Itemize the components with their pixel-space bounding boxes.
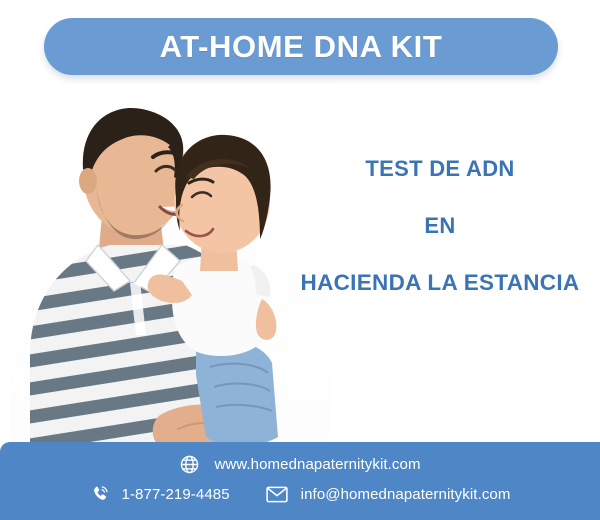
headline-line-2: EN [286,215,594,237]
page-title: AT-HOME DNA KIT [160,31,443,62]
email-contact[interactable]: info@homednapaternitykit.com [266,486,511,503]
headline-line-1: TEST DE ADN [286,158,594,180]
footer-contact-bar: www.homednapaternitykit.com 1-877-219-44… [0,442,600,520]
globe-icon [179,454,200,475]
father-and-child-illustration [10,85,330,460]
envelope-icon [266,486,288,503]
hero-photo [10,85,330,460]
footer-contact-row: 1-877-219-4485 info@homednapaternitykit.… [0,484,600,504]
phone-icon [90,484,110,504]
phone-text[interactable]: 1-877-219-4485 [122,487,230,502]
email-text[interactable]: info@homednapaternitykit.com [301,487,511,502]
website-text[interactable]: www.homednapaternitykit.com [214,457,420,472]
poster-canvas: AT-HOME DNA KIT [0,0,600,520]
headline-line-3: HACIENDA LA ESTANCIA [286,272,594,295]
headline-block: TEST DE ADN EN HACIENDA LA ESTANCIA [286,158,594,295]
phone-contact[interactable]: 1-877-219-4485 [90,484,230,504]
header-pill-banner: AT-HOME DNA KIT [44,18,558,75]
footer-website-row: www.homednapaternitykit.com [0,454,600,475]
